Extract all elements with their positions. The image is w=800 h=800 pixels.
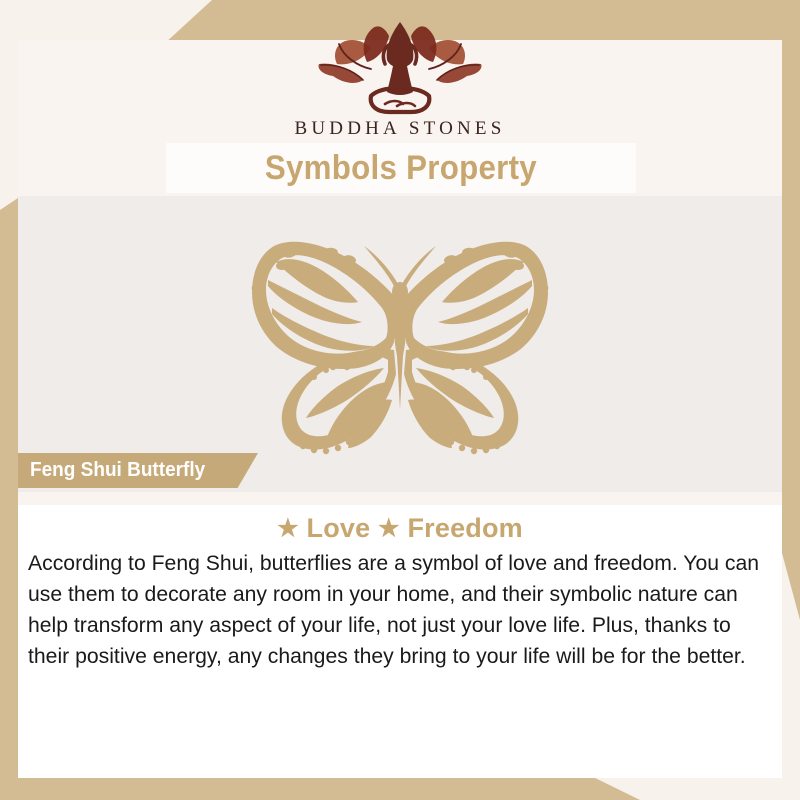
star-icon-middle: ★ — [378, 515, 400, 542]
brand-logo: BUDDHA STONES — [0, 20, 800, 140]
feature-banner: Feng Shui Butterfly — [18, 453, 258, 488]
content-subheading: ★ Love ★ Freedom — [18, 513, 782, 544]
subheading-word-two: Freedom — [407, 513, 522, 543]
subheading-word-one: Love — [307, 513, 371, 543]
butterfly-icon — [218, 222, 582, 466]
gold-border-left — [0, 198, 18, 800]
star-icon-left: ★ — [277, 515, 299, 542]
infographic-page: BUDDHA STONES Symbols Property — [0, 0, 800, 800]
feature-image-panel — [18, 196, 782, 492]
feature-banner-label: Feng Shui Butterfly — [30, 459, 205, 482]
gold-border-bottom — [0, 778, 640, 800]
description-paragraph: According to Feng Shui, butterflies are … — [28, 548, 761, 672]
page-title-bar: Symbols Property — [166, 143, 636, 193]
description-section: ★ Love ★ Freedom According to Feng Shui,… — [18, 505, 782, 778]
brand-name: BUDDHA STONES — [294, 118, 505, 140]
page-title: Symbols Property — [265, 149, 537, 188]
lotus-meditation-icon — [315, 20, 485, 116]
